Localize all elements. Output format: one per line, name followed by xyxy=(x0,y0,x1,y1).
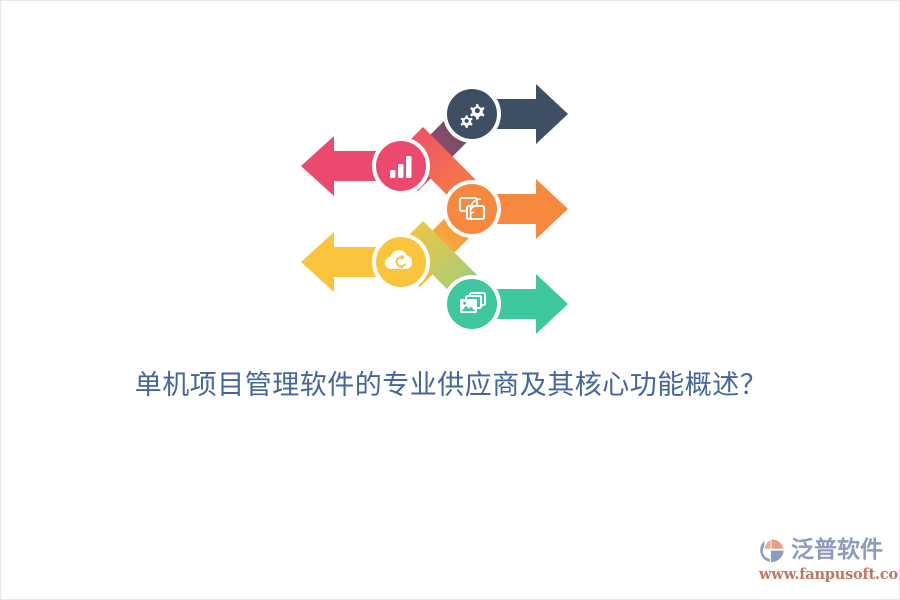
logo-company-name: 泛普软件 xyxy=(791,536,883,564)
node-cloud-sync[interactable] xyxy=(372,233,430,291)
zigzag-arrow-infographic xyxy=(296,71,571,331)
node-bar-chart[interactable] xyxy=(372,137,430,195)
page-title: 单机项目管理软件的专业供应商及其核心功能概述？ xyxy=(1,367,900,405)
node-gears[interactable] xyxy=(443,85,501,143)
logo-mark-icon xyxy=(758,536,788,564)
node-screencast[interactable] xyxy=(443,180,501,238)
page-canvas: 单机项目管理软件的专业供应商及其核心功能概述？ 泛普软件 www.fanpuso… xyxy=(0,0,900,600)
node-gallery[interactable] xyxy=(443,275,501,333)
logo-website-url: www.fanpusoft.com xyxy=(759,566,894,583)
brand-logo[interactable]: 泛普软件 www.fanpusoft.com xyxy=(758,534,894,584)
